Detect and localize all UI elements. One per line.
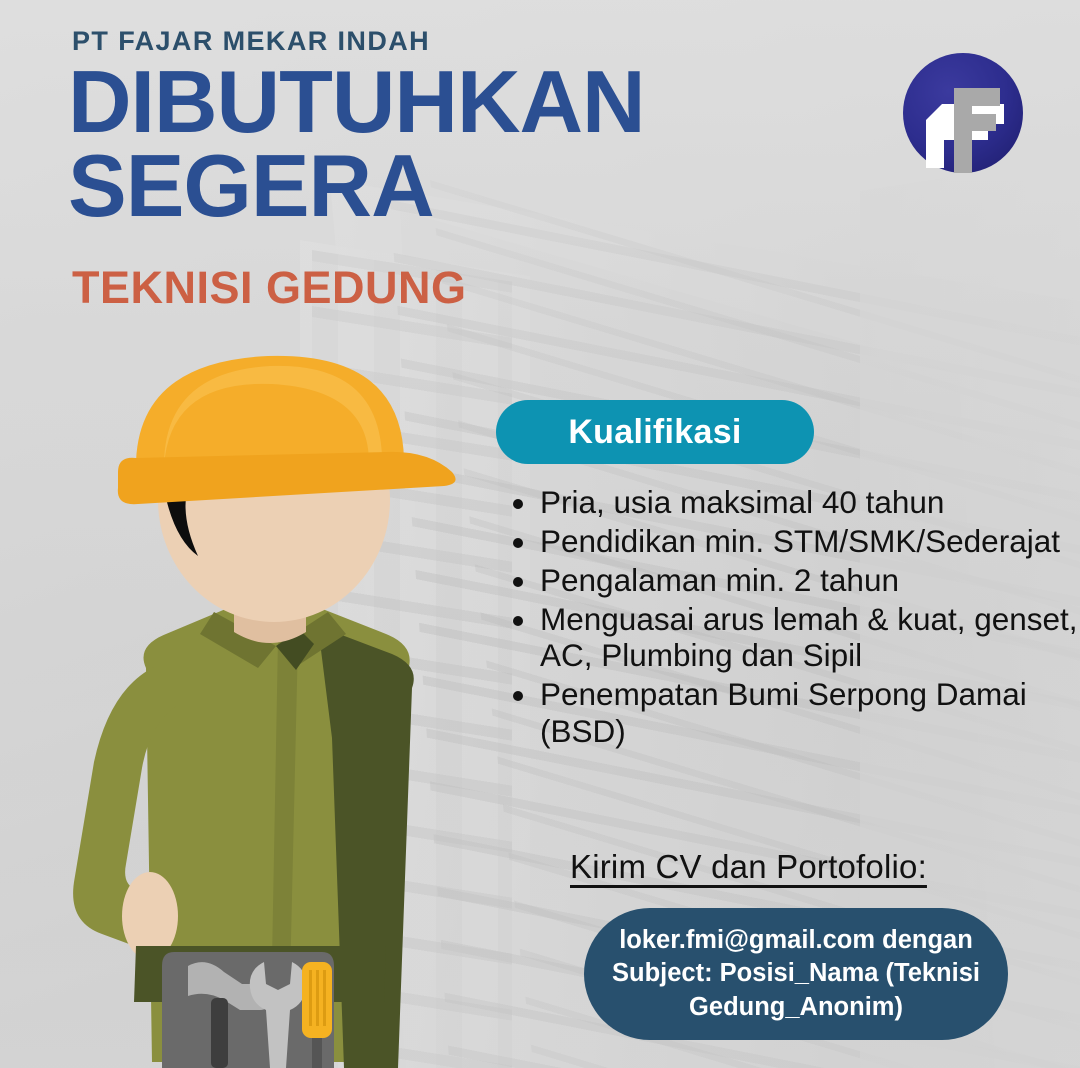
- job-title: TEKNISI GEDUNG: [72, 262, 467, 314]
- qualifications-badge-label: Kualifikasi: [568, 413, 741, 452]
- screwdriver-handle-groove-3: [323, 970, 326, 1026]
- qualifications-badge: Kualifikasi: [496, 400, 814, 464]
- list-item: Pengalaman min. 2 tahun: [540, 562, 1080, 599]
- list-item: Pendidikan min. STM/SMK/Sederajat: [540, 523, 1080, 560]
- headline-line-2: SEGERA: [68, 144, 645, 228]
- screwdriver-handle-groove-1: [309, 970, 312, 1026]
- page-title: DIBUTUHKAN SEGERA: [68, 60, 645, 227]
- contact-line-1: loker.fmi@gmail.com dengan: [619, 924, 973, 958]
- hammer-handle: [211, 998, 228, 1068]
- qualifications-list: Pria, usia maksimal 40 tahun Pendidikan …: [500, 484, 1080, 752]
- contact-line-3: Gedung_Anonim): [689, 991, 903, 1025]
- job-vacancy-poster: PT FAJAR MEKAR INDAH DIBUTUHKAN SEGERA T…: [0, 0, 1080, 1068]
- contact-line-2: Subject: Posisi_Nama (Teknisi: [612, 957, 980, 991]
- send-cv-label: Kirim CV dan Portofolio:: [570, 848, 927, 886]
- list-item: Pria, usia maksimal 40 tahun: [540, 484, 1080, 521]
- list-item: Menguasai arus lemah & kuat, genset, AC,…: [540, 601, 1080, 675]
- list-item: Penempatan Bumi Serpong Damai (BSD): [540, 676, 1080, 750]
- contact-email-box[interactable]: loker.fmi@gmail.com dengan Subject: Posi…: [584, 908, 1008, 1040]
- screwdriver-icon: [312, 1038, 322, 1068]
- company-logo-icon: [898, 48, 1028, 178]
- screwdriver-handle-groove-2: [316, 970, 319, 1026]
- construction-worker-illustration: [28, 350, 468, 1068]
